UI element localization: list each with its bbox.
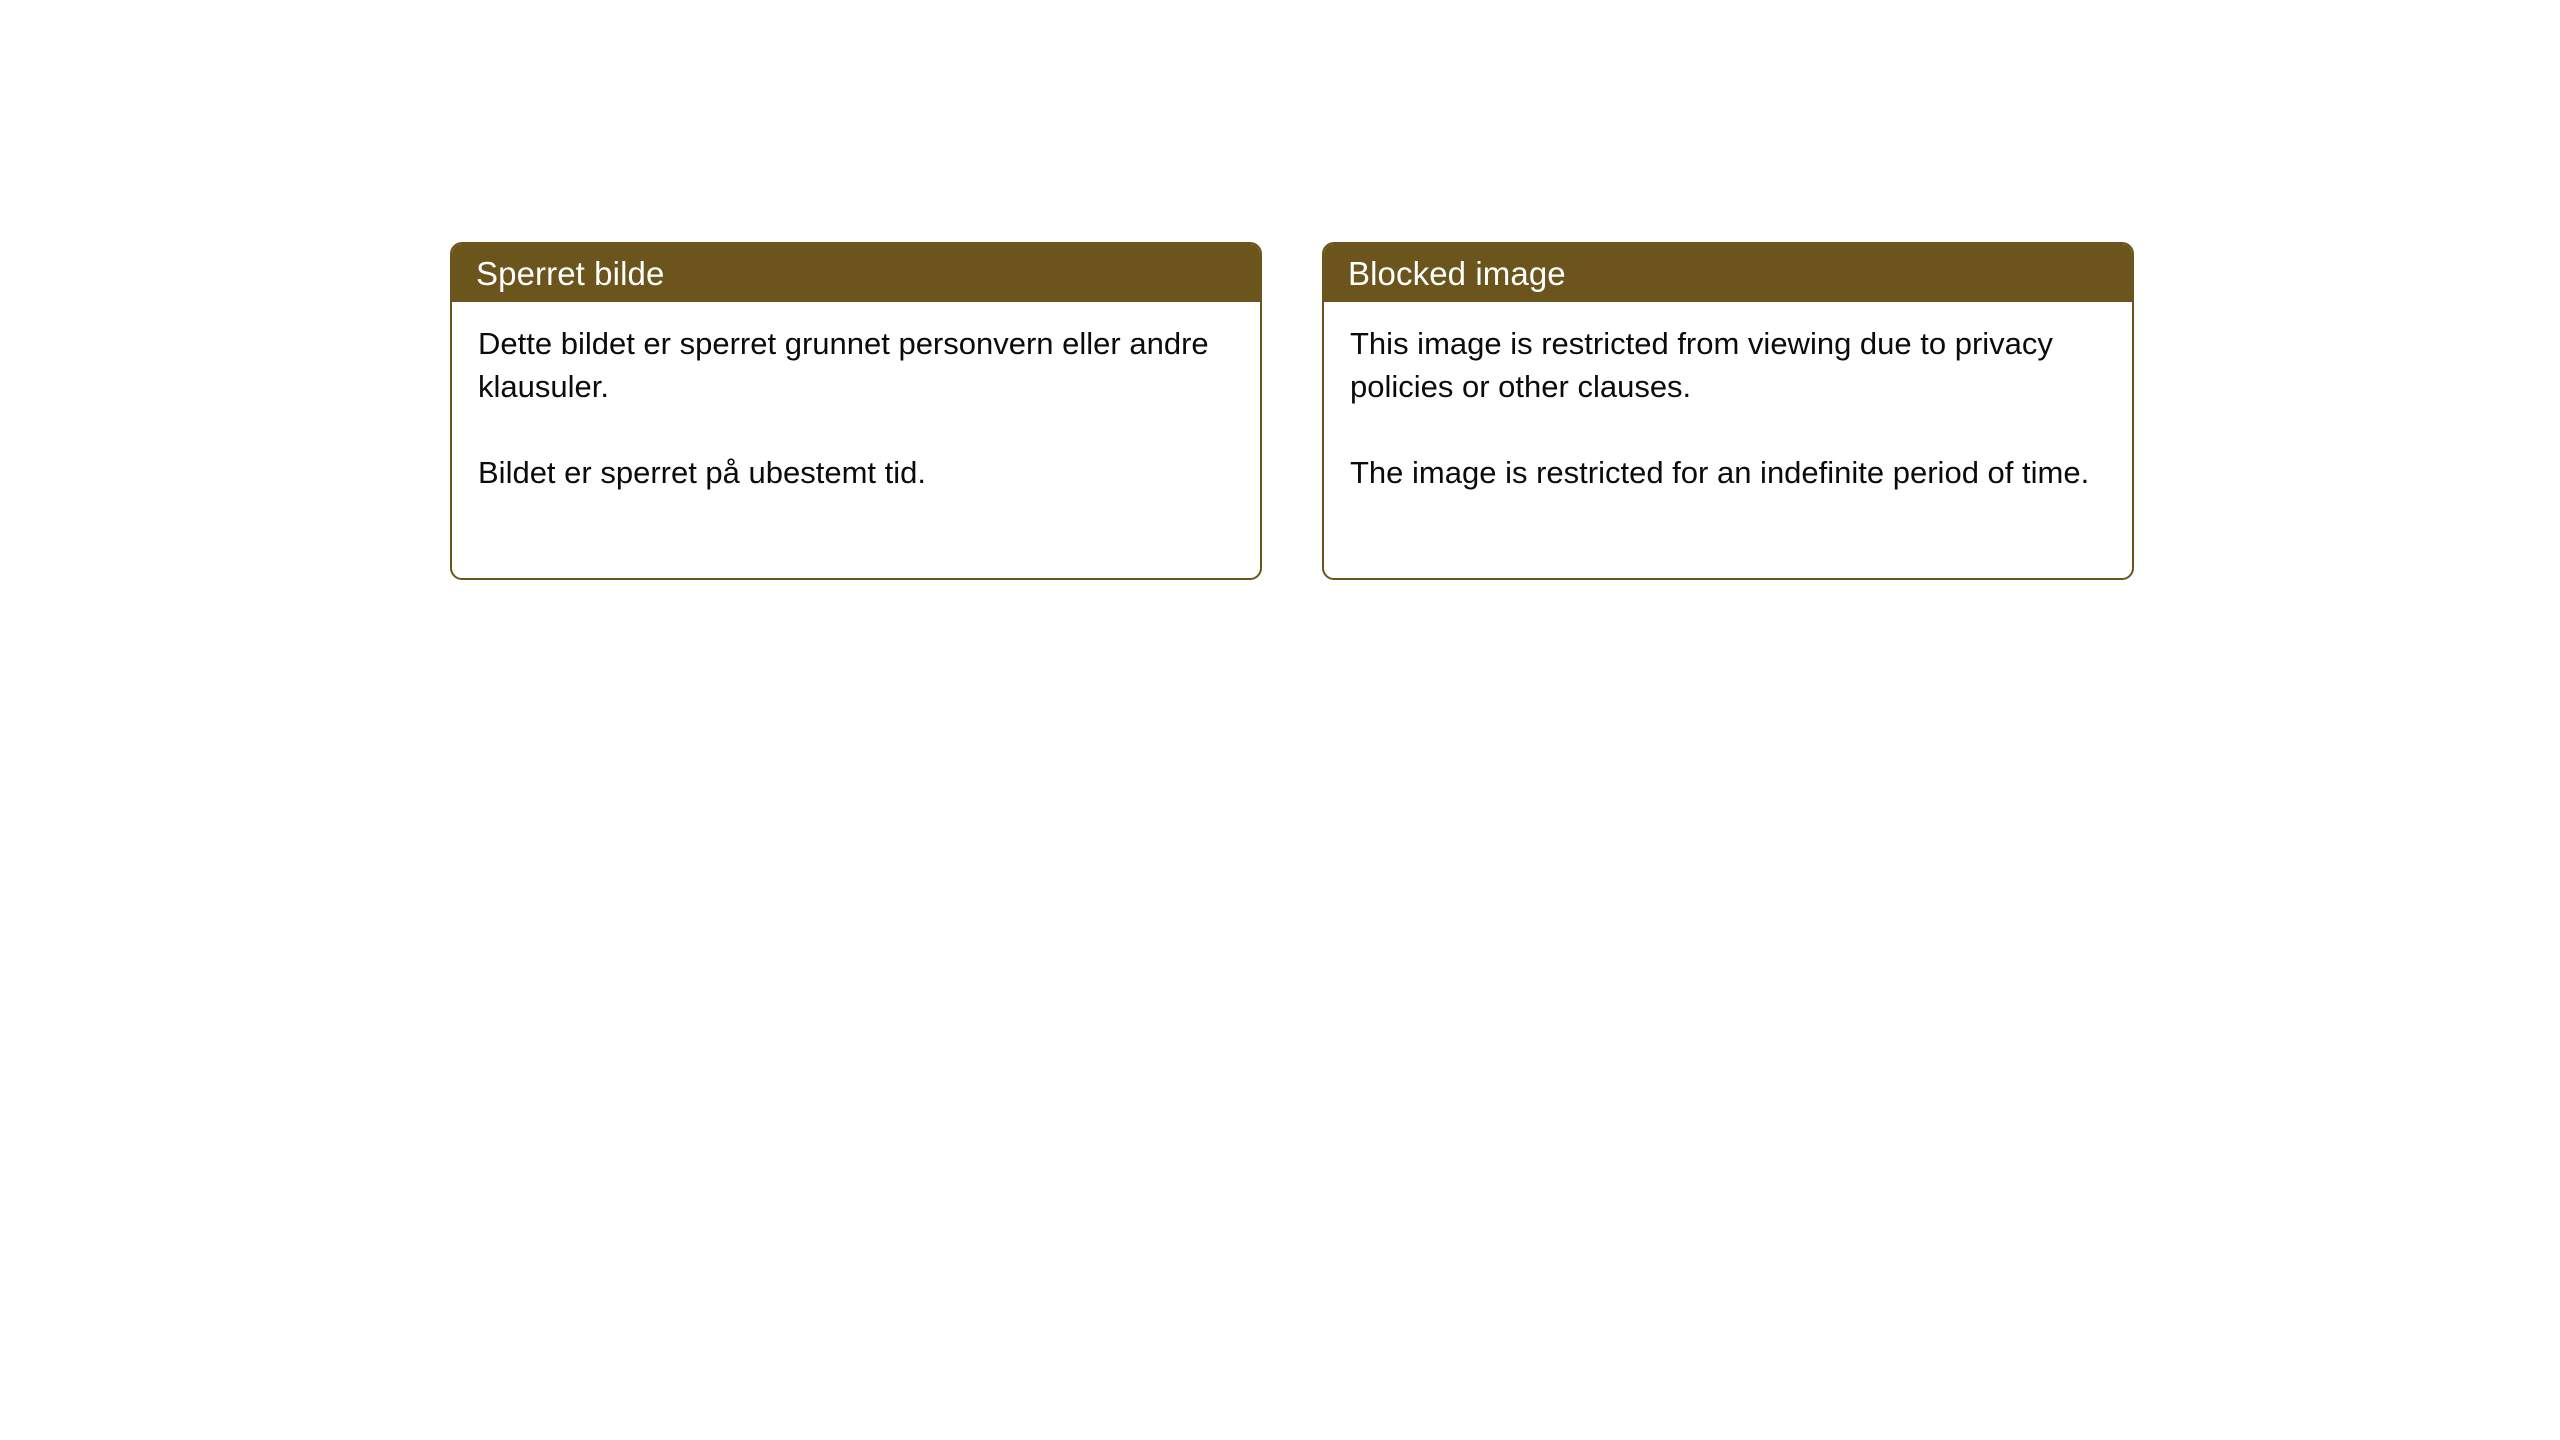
notice-body-no: Dette bildet er sperret grunnet personve…: [452, 302, 1260, 494]
notice-paragraph-reason-no: Dette bildet er sperret grunnet personve…: [478, 322, 1236, 408]
notice-paragraph-duration-en: The image is restricted for an indefinit…: [1350, 451, 2108, 494]
page-root: Sperret bilde Dette bildet er sperret gr…: [0, 0, 2560, 1440]
notice-title-no: Sperret bilde: [476, 257, 664, 290]
blocked-image-notice-no: Sperret bilde Dette bildet er sperret gr…: [450, 242, 1262, 580]
blocked-image-notice-en: Blocked image This image is restricted f…: [1322, 242, 2134, 580]
notice-header-no: Sperret bilde: [452, 244, 1260, 302]
notice-header-en: Blocked image: [1324, 244, 2132, 302]
notice-title-en: Blocked image: [1348, 257, 1566, 290]
notice-paragraph-duration-no: Bildet er sperret på ubestemt tid.: [478, 451, 1236, 494]
notice-paragraph-reason-en: This image is restricted from viewing du…: [1350, 322, 2108, 408]
notice-body-en: This image is restricted from viewing du…: [1324, 302, 2132, 494]
